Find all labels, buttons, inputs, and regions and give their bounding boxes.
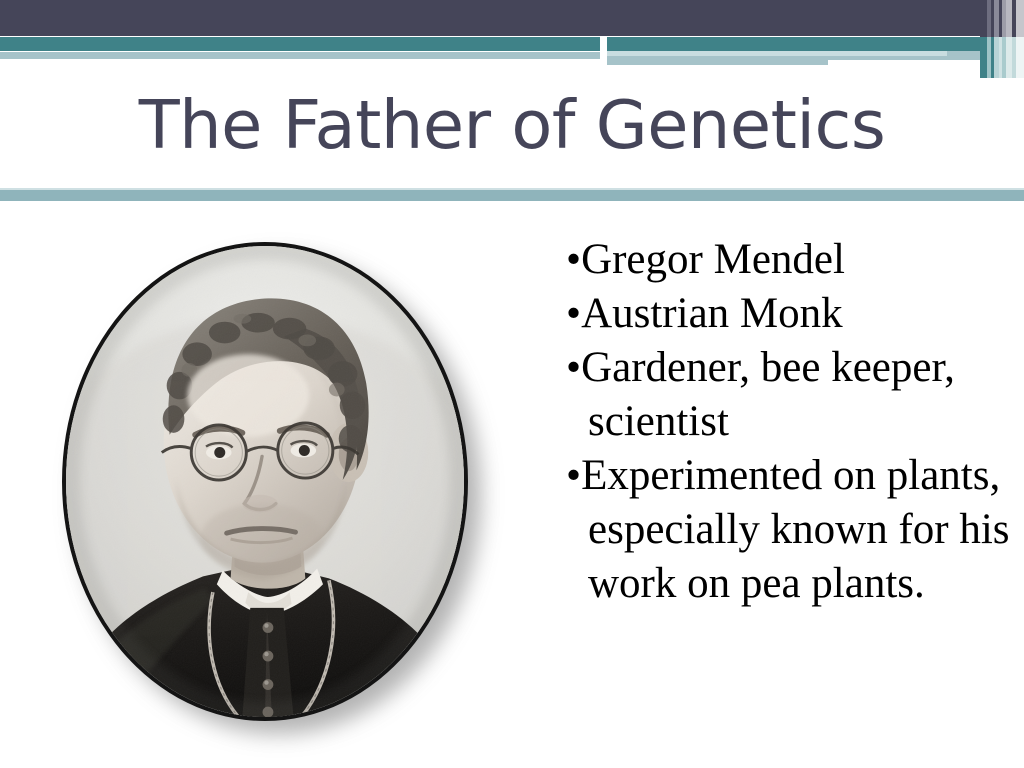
vertical-stripe-top [1016,0,1024,37]
list-item-label: Experimented on plants, especially known… [581,452,1009,607]
bullet-marker-icon: • [566,452,581,499]
bullet-list: •Gregor Mendel •Austrian Monk •Gardener,… [566,233,1014,611]
list-item: •Gardener, bee keeper, scientist [566,341,1014,449]
title-area: The Father of Genetics [0,82,1024,187]
list-item-label: Gregor Mendel [581,236,845,283]
bullet-marker-icon: • [566,290,581,337]
bullet-marker-icon: • [566,344,581,391]
bullet-marker-icon: • [566,236,581,283]
vertical-stripe-bottom [1016,37,1024,78]
vertical-stripe-bottom [980,37,987,78]
title-rule [0,190,1024,201]
list-item: •Experimented on plants, especially know… [566,449,1014,611]
header-decoration [0,0,1024,78]
presentation-slide: The Father of Genetics [0,0,1024,768]
vertical-stripe-top [980,0,987,37]
page-title: The Father of Genetics [0,82,1024,168]
portrait-figure [62,242,482,732]
list-item: •Austrian Monk [566,287,1014,341]
header-teal-band-right [607,37,1024,51]
header-vertical-stripes [980,0,1024,78]
list-item: •Gregor Mendel [566,233,1014,287]
header-pale-band-left [0,52,600,59]
portrait-image-gregor-mendel [62,242,468,721]
header-dark-band [0,0,1024,36]
header-teal-band-left [0,37,600,51]
list-item-label: Gardener, bee keeper, scientist [581,344,955,445]
slide-body: •Gregor Mendel •Austrian Monk •Gardener,… [0,215,1024,768]
list-item-label: Austrian Monk [581,290,843,337]
